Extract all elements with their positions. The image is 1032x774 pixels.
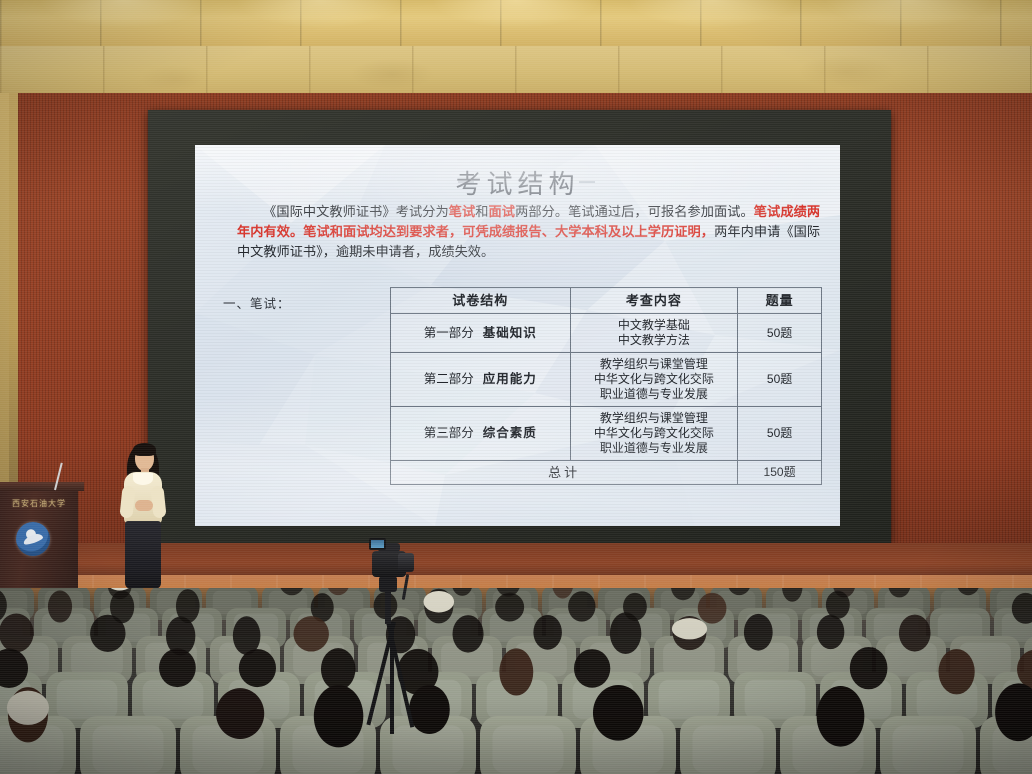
paragraph-run-1: 笔试 [449, 204, 476, 219]
table-header-row: 试卷结构 考查内容 题量 [391, 288, 822, 314]
slide-paragraph: 《国际中文教师证书》考试分为笔试和面试两部分。笔试通过后，可报名参加面试。笔试成… [237, 202, 820, 261]
col-header-content: 考查内容 [570, 288, 738, 314]
table-body: 第一部分基础知识中文教学基础中文教学方法50题第二部分应用能力教学组织与课堂管理… [391, 314, 822, 461]
speaker-hands [135, 500, 153, 511]
total-label: 总计 [391, 461, 738, 485]
paragraph-run-4: 两部分。笔试通过后，可报名参加面试。 [515, 204, 754, 219]
paragraph-run-3: 面试 [489, 204, 516, 219]
presentation-slide: 考试结构 《国际中文教师证书》考试分为笔试和面试两部分。笔试通过后，可报名参加面… [195, 145, 840, 526]
section-label: 一、笔试： [223, 293, 291, 312]
speaker-hair-front [133, 443, 156, 456]
podium-top-surface [0, 482, 84, 491]
row-0-structure: 第一部分基础知识 [391, 314, 571, 353]
col-header-count: 题量 [738, 288, 822, 314]
table-row: 第一部分基础知识中文教学基础中文教学方法50题 [391, 314, 822, 353]
row-1-count: 50题 [738, 353, 822, 407]
university-emblem [16, 522, 50, 556]
table-row: 第二部分应用能力教学组织与课堂管理中华文化与跨文化交际职业道德与专业发展50题 [391, 353, 822, 407]
row-2-structure: 第三部分综合素质 [391, 407, 571, 461]
audience-render [0, 588, 1032, 774]
camera-lcd-screen [369, 538, 386, 550]
row-2-count: 50题 [738, 407, 822, 461]
camera-lens-hood [398, 553, 414, 572]
row-0-count: 50题 [738, 314, 822, 353]
table-total-row: 总计 150题 [391, 461, 822, 485]
speaker-skirt [125, 521, 161, 589]
row-0-content: 中文教学基础中文教学方法 [570, 314, 738, 353]
podium-university-name: 西安石油大学 [2, 498, 76, 509]
row-1-content: 教学组织与课堂管理中华文化与跨文化交际职业道德与专业发展 [570, 353, 738, 407]
paragraph-run-2: 和 [475, 204, 488, 219]
exam-structure-table: 试卷结构 考查内容 题量 第一部分基础知识中文教学基础中文教学方法50题第二部分… [390, 287, 822, 485]
paragraph-run-0: 《国际中文教师证书》考试分为 [263, 204, 449, 219]
ceiling-gold-panels [0, 0, 1032, 46]
row-1-structure: 第二部分应用能力 [391, 353, 571, 407]
row-2-content: 教学组织与课堂管理中华文化与跨文化交际职业道德与专业发展 [570, 407, 738, 461]
paragraph-runs: 《国际中文教师证书》考试分为笔试和面试两部分。笔试通过后，可报名参加面试。笔试成… [237, 204, 820, 259]
total-count: 150题 [738, 461, 822, 485]
tripod-head [379, 576, 397, 592]
tripod-column [385, 590, 391, 624]
table-row: 第三部分综合素质教学组织与课堂管理中华文化与跨文化交际职业道德与专业发展50题 [391, 407, 822, 461]
col-header-structure: 试卷结构 [391, 288, 571, 314]
lecture-hall-photo: 考试结构 《国际中文教师证书》考试分为笔试和面试两部分。笔试通过后，可报名参加面… [0, 0, 1032, 774]
stone-band-wall [0, 46, 1032, 93]
audience-seating [0, 588, 1032, 774]
speaker-collar [133, 473, 153, 485]
slide-title: 考试结构 [195, 164, 840, 201]
